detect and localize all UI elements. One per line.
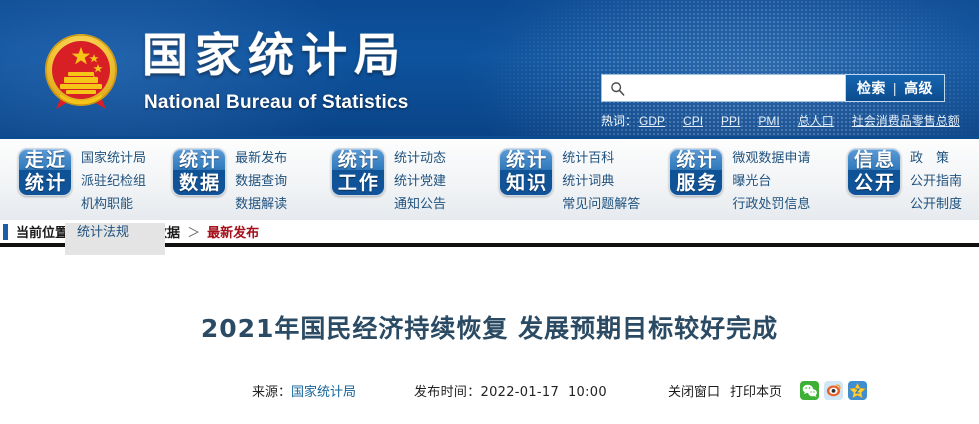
nav-link-functions[interactable]: 机构职能 xyxy=(81,195,146,215)
article-source: 来源：国家统计局 xyxy=(252,381,356,400)
nav-dropdown-item-regulations[interactable]: 统计法规 xyxy=(65,223,165,243)
article-date-value: 2022-01-17 xyxy=(481,385,560,400)
nav-badge-line1: 统计 xyxy=(506,149,548,172)
nav-group-services: 统计 服务 微观数据申请 曝光台 行政处罚信息 xyxy=(669,139,839,220)
nav-badge-line2: 统计 xyxy=(25,172,67,195)
breadcrumb-separator-2: ＞ xyxy=(187,222,200,241)
page-root: 国家统计局 National Bureau of Statistics 检索 |… xyxy=(0,0,979,424)
nav-links-disclosure: 政 策 公开指南 公开制度 xyxy=(910,148,962,215)
hotword-retail-sales[interactable]: 社会消费品零售总额 xyxy=(852,112,960,129)
nav-link-latest-release[interactable]: 最新发布 xyxy=(235,149,287,169)
share-icons: Z xyxy=(800,381,867,400)
nav-link-encyclopedia[interactable]: 统计百科 xyxy=(562,149,640,169)
hotword-gdp[interactable]: GDP xyxy=(639,114,665,128)
nav-links-work: 统计动态 统计党建 通知公告 xyxy=(394,148,446,215)
nav-group-about: 走近 统计 国家统计局 派驻纪检组 机构职能 xyxy=(18,139,164,220)
article-actions: 关闭窗口 打印本页 xyxy=(668,381,867,400)
search-button-separator: | xyxy=(893,80,897,96)
hotword-ppi[interactable]: PPI xyxy=(721,114,740,128)
nav-link-data-query[interactable]: 数据查询 xyxy=(235,172,287,192)
print-page-button[interactable]: 打印本页 xyxy=(730,381,782,400)
nav-badge-line1: 走近 xyxy=(25,149,67,172)
article-source-label: 来源： xyxy=(252,385,291,400)
hotword-pmi[interactable]: PMI xyxy=(758,114,779,128)
hotword-population[interactable]: 总人口 xyxy=(798,112,834,129)
hotwords-label: 热词： xyxy=(601,112,637,129)
breadcrumb-accent xyxy=(3,224,8,240)
nav-links-services: 微观数据申请 曝光台 行政处罚信息 xyxy=(732,148,810,215)
nav-link-disclosure-guide[interactable]: 公开指南 xyxy=(910,172,962,192)
nav-badge-data[interactable]: 统计 数据 xyxy=(172,148,226,196)
nav-group-disclosure: 信息 公开 政 策 公开指南 公开制度 xyxy=(847,139,979,220)
nav-badge-work[interactable]: 统计 工作 xyxy=(331,148,385,196)
article-time-value: 10:00 xyxy=(568,385,607,400)
article-meta: 来源：国家统计局 发布时间：2022-01-17 10:00 关闭窗口 打印本页 xyxy=(0,379,979,401)
nav-link-party[interactable]: 统计党建 xyxy=(394,172,446,192)
nav-link-data-interpretation[interactable]: 数据解读 xyxy=(235,195,287,215)
nav-link-policy[interactable]: 政 策 xyxy=(910,149,962,169)
hotword-cpi[interactable]: CPI xyxy=(683,114,703,128)
nav-badge-line1: 信息 xyxy=(854,149,896,172)
site-title-en: National Bureau of Statistics xyxy=(144,92,408,114)
article-time-label: 发布时间： xyxy=(414,385,481,400)
weibo-share-icon[interactable] xyxy=(824,381,843,400)
china-national-emblem xyxy=(36,27,126,117)
article-publish-time: 发布时间：2022-01-17 10:00 xyxy=(414,381,607,400)
nav-badge-line2: 知识 xyxy=(506,172,548,195)
nav-link-dictionary[interactable]: 统计词典 xyxy=(562,172,640,192)
nav-links-about: 国家统计局 派驻纪检组 机构职能 xyxy=(81,148,146,215)
nav-group-knowledge: 统计 知识 统计百科 统计词典 常见问题解答 xyxy=(499,139,661,220)
nav-group-work: 统计 工作 统计动态 统计党建 通知公告 xyxy=(331,139,491,220)
breadcrumb-current: 最新发布 xyxy=(207,222,259,241)
nav-badge-about[interactable]: 走近 统计 xyxy=(18,148,72,196)
nav-link-news[interactable]: 统计动态 xyxy=(394,149,446,169)
search-submit-button[interactable]: 检索 | 高级 xyxy=(845,74,945,102)
wechat-share-icon[interactable] xyxy=(800,381,819,400)
nav-badge-line2: 公开 xyxy=(854,172,896,195)
nav-badge-line2: 服务 xyxy=(676,172,718,195)
nav-badge-services[interactable]: 统计 服务 xyxy=(669,148,723,196)
svg-text:Z: Z xyxy=(855,386,860,395)
nav-links-knowledge: 统计百科 统计词典 常见问题解答 xyxy=(562,148,640,215)
favorite-star-icon[interactable]: Z xyxy=(848,381,867,400)
search-icon xyxy=(602,81,632,96)
nav-link-disclosure-system[interactable]: 公开制度 xyxy=(910,195,962,215)
nav-badge-line2: 数据 xyxy=(179,172,221,195)
nav-link-announcements[interactable]: 通知公告 xyxy=(394,195,446,215)
main-navigation: 走近 统计 国家统计局 派驻纪检组 机构职能 统计 数据 最新发布 数据查询 数… xyxy=(0,136,979,220)
nav-link-discipline[interactable]: 派驻纪检组 xyxy=(81,172,146,192)
close-window-button[interactable]: 关闭窗口 xyxy=(668,381,720,400)
site-title-cn: 国家统计局 xyxy=(142,32,407,78)
article-source-value[interactable]: 国家统计局 xyxy=(291,385,356,400)
nav-badge-line1: 统计 xyxy=(179,149,221,172)
advanced-search-link[interactable]: 高级 xyxy=(904,78,933,98)
nav-group-data: 统计 数据 最新发布 数据查询 数据解读 xyxy=(172,139,323,220)
breadcrumb-label: 当前位置 xyxy=(16,222,68,241)
nav-dropdown-panel[interactable]: 统计法规 xyxy=(65,223,165,255)
nav-badge-line2: 工作 xyxy=(338,172,380,195)
nav-link-exposure[interactable]: 曝光台 xyxy=(732,172,810,192)
nav-link-microdata-request[interactable]: 微观数据申请 xyxy=(732,149,810,169)
nav-link-faq[interactable]: 常见问题解答 xyxy=(562,195,640,215)
article-title: 2021年国民经济持续恢复 发展预期目标较好完成 xyxy=(0,309,979,345)
nav-links-data: 最新发布 数据查询 数据解读 xyxy=(235,148,287,215)
nav-link-nbs[interactable]: 国家统计局 xyxy=(81,149,146,169)
article-container: 2021年国民经济持续恢复 发展预期目标较好完成 来源：国家统计局 发布时间：2… xyxy=(0,309,979,401)
nav-link-penalty-info[interactable]: 行政处罚信息 xyxy=(732,195,810,215)
hotwords-bar: 热词： GDP CPI PPI PMI 总人口 社会消费品零售总额 xyxy=(601,112,960,129)
nav-badge-knowledge[interactable]: 统计 知识 xyxy=(499,148,553,196)
nav-badge-line1: 统计 xyxy=(676,149,718,172)
site-header: 国家统计局 National Bureau of Statistics 检索 |… xyxy=(0,0,979,136)
search-submit-label: 检索 xyxy=(857,78,886,98)
nav-badge-disclosure[interactable]: 信息 公开 xyxy=(847,148,901,196)
nav-badge-line1: 统计 xyxy=(338,149,380,172)
